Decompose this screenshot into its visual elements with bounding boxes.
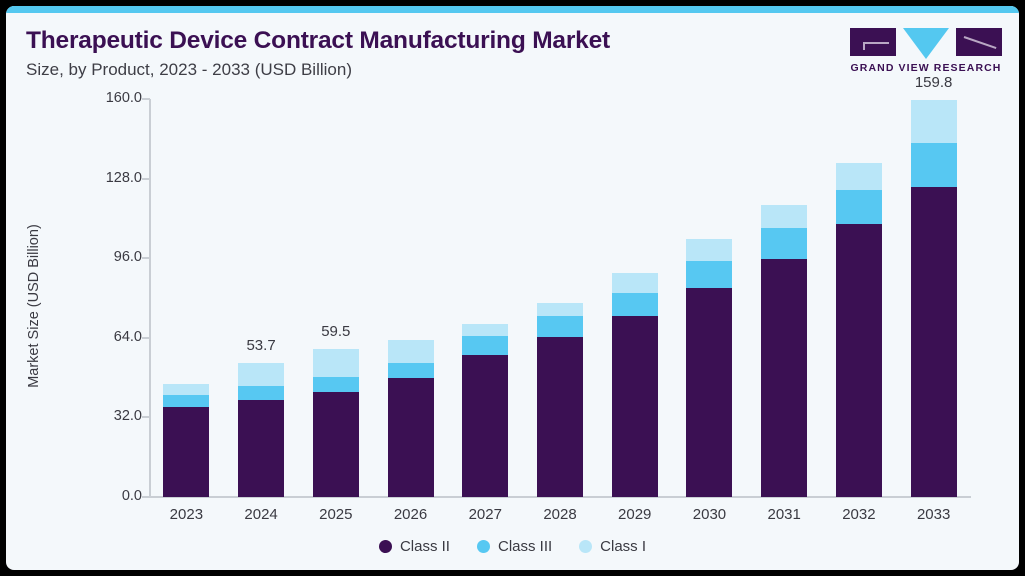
- bar-segment[interactable]: [537, 303, 583, 316]
- legend-label: Class II: [400, 538, 450, 555]
- bar-segment[interactable]: [836, 190, 882, 225]
- bar-group[interactable]: [462, 324, 508, 497]
- y-axis-label: Market Size (USD Billion): [26, 181, 42, 431]
- bar-segment[interactable]: [462, 355, 508, 497]
- legend-item[interactable]: Class II: [379, 538, 450, 555]
- bar-series-container: 53.759.5159.8: [149, 99, 971, 497]
- chart-plot-area: Market Size (USD Billion) 0.032.064.096.…: [6, 6, 1019, 570]
- bar-segment[interactable]: [612, 316, 658, 497]
- chart-card: Therapeutic Device Contract Manufacturin…: [6, 6, 1019, 570]
- bar-segment[interactable]: [163, 395, 209, 407]
- bar-segment[interactable]: [238, 363, 284, 386]
- bar-segment[interactable]: [612, 273, 658, 293]
- bar-group[interactable]: [761, 205, 807, 497]
- bar-segment[interactable]: [388, 378, 434, 497]
- y-tick-label: 0.0: [72, 488, 142, 504]
- bar-segment[interactable]: [686, 288, 732, 497]
- bar-segment[interactable]: [388, 340, 434, 363]
- bar-segment[interactable]: [686, 261, 732, 288]
- bar-group[interactable]: [163, 384, 209, 497]
- y-tick-label: 32.0: [72, 408, 142, 424]
- y-tick-label: 160.0: [72, 90, 142, 106]
- bar-segment[interactable]: [238, 386, 284, 399]
- bar-group[interactable]: [313, 349, 359, 497]
- x-tick-label: 2033: [884, 506, 984, 523]
- bar-segment[interactable]: [238, 400, 284, 498]
- bar-segment[interactable]: [313, 349, 359, 377]
- legend-item[interactable]: Class I: [579, 538, 646, 555]
- legend-item[interactable]: Class III: [477, 538, 552, 555]
- bar-segment[interactable]: [313, 377, 359, 392]
- bar-segment[interactable]: [313, 392, 359, 497]
- bar-segment[interactable]: [537, 337, 583, 497]
- bar-group[interactable]: [537, 303, 583, 498]
- bar-value-label: 59.5: [286, 323, 386, 340]
- bar-segment[interactable]: [163, 384, 209, 395]
- bar-group[interactable]: [911, 100, 957, 497]
- y-tick-label: 96.0: [72, 249, 142, 265]
- legend-label: Class III: [498, 538, 552, 555]
- bar-segment[interactable]: [163, 407, 209, 497]
- bar-segment[interactable]: [911, 187, 957, 497]
- bar-segment[interactable]: [761, 259, 807, 497]
- legend-color-dot-icon: [579, 540, 592, 553]
- legend-color-dot-icon: [477, 540, 490, 553]
- bar-group[interactable]: [836, 163, 882, 497]
- bar-group[interactable]: [238, 363, 284, 497]
- y-tick-label: 64.0: [72, 329, 142, 345]
- bar-segment[interactable]: [836, 224, 882, 497]
- bar-segment[interactable]: [612, 293, 658, 316]
- bar-group[interactable]: [612, 273, 658, 497]
- bar-value-label: 159.8: [884, 74, 984, 91]
- bar-segment[interactable]: [761, 205, 807, 228]
- legend-color-dot-icon: [379, 540, 392, 553]
- y-tick-label: 128.0: [72, 170, 142, 186]
- chart-legend: Class IIClass IIIClass I: [6, 538, 1019, 555]
- bar-segment[interactable]: [462, 336, 508, 355]
- bar-segment[interactable]: [761, 228, 807, 259]
- bar-segment[interactable]: [911, 100, 957, 143]
- bar-segment[interactable]: [462, 324, 508, 336]
- bar-segment[interactable]: [911, 143, 957, 187]
- bar-group[interactable]: [686, 239, 732, 497]
- bar-segment[interactable]: [537, 316, 583, 337]
- bar-group[interactable]: [388, 340, 434, 497]
- legend-label: Class I: [600, 538, 646, 555]
- bar-segment[interactable]: [686, 239, 732, 261]
- bar-segment[interactable]: [388, 363, 434, 378]
- bar-segment[interactable]: [836, 163, 882, 190]
